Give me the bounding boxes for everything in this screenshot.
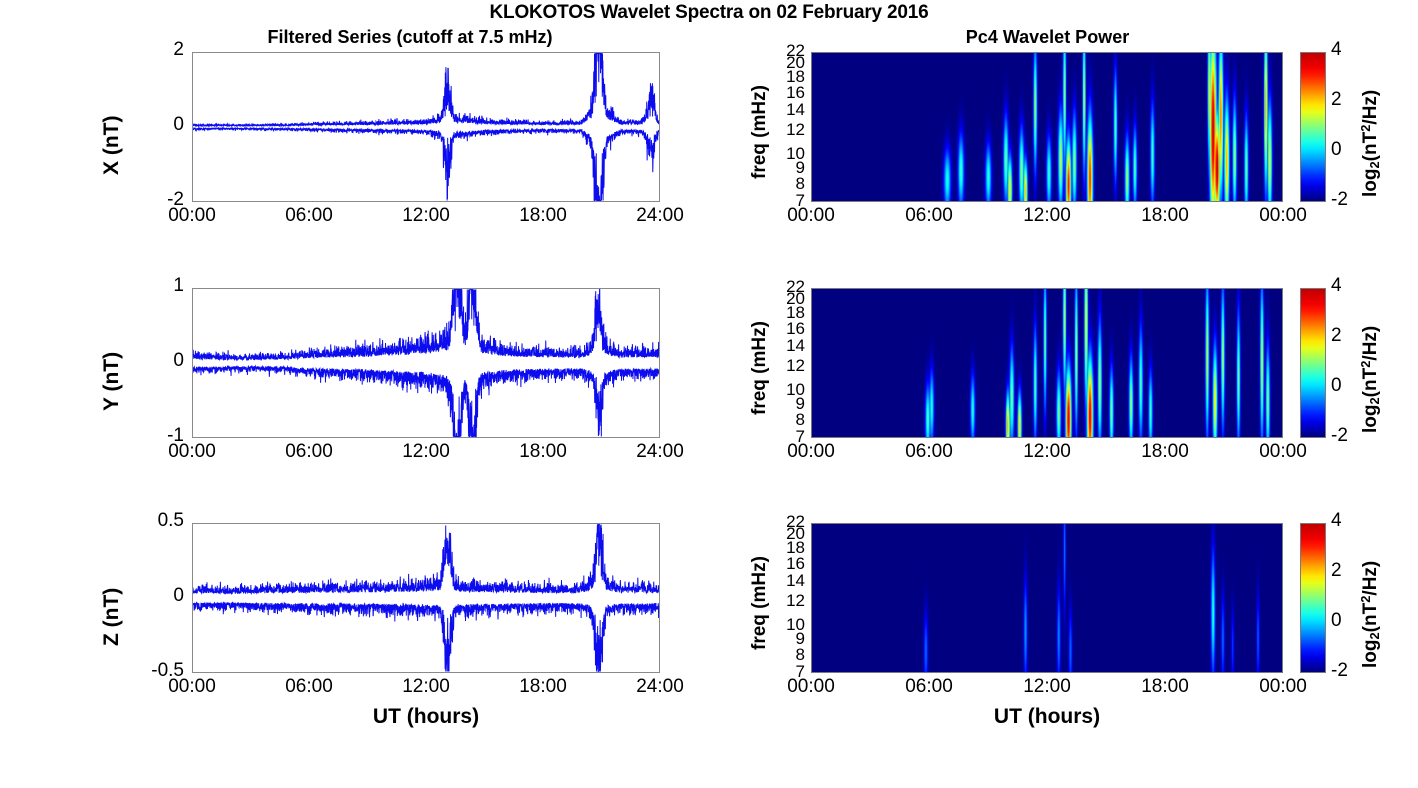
colorbar-x	[1300, 52, 1326, 202]
ylabel-z: Z (nT)	[100, 588, 124, 646]
wavelet-spectra-figure: KLOKOTOS Wavelet Spectra on 02 February …	[0, 0, 1418, 788]
colorbar-label-0: log2(nT2/Hz)	[1358, 90, 1382, 197]
freq-axis-label-1: freq (mHz)	[749, 321, 771, 415]
colorbar-tick-1-0: 4	[1331, 275, 1342, 297]
colorbar-label-2: log2(nT2/Hz)	[1358, 561, 1382, 668]
xtick-left-2-2: 12:00	[381, 676, 471, 698]
xtick-left-1-2: 12:00	[381, 441, 471, 463]
xtick-right-0-2: 12:00	[1002, 205, 1092, 227]
left-column-title: Filtered Series (cutoff at 7.5 mHz)	[155, 27, 665, 48]
xtick-right-2-1: 06:00	[884, 676, 974, 698]
xtick-right-2-4: 00:00	[1238, 676, 1328, 698]
colorbar-z	[1300, 523, 1326, 673]
xtick-right-0-4: 00:00	[1238, 205, 1328, 227]
colorbar-tick-2-0: 4	[1331, 510, 1342, 532]
timeseries-plot-z	[192, 523, 660, 673]
spectrogram-plot-x	[811, 52, 1283, 202]
ftick-2-14: 14	[773, 571, 805, 591]
ytick-x-2: 2	[126, 39, 184, 61]
ftick-0-12: 12	[773, 120, 805, 140]
colorbar-tick-0-0: 4	[1331, 39, 1342, 61]
colorbar-tick-2-1: 2	[1331, 560, 1342, 582]
colorbar-tick-1-2: 0	[1331, 375, 1342, 397]
timeseries-plot-x	[192, 52, 660, 202]
freq-axis-label-2: freq (mHz)	[749, 556, 771, 650]
right-column-title: Pc4 Wavelet Power	[810, 27, 1285, 48]
colorbar-tick-0-1: 2	[1331, 89, 1342, 111]
xtick-left-0-2: 12:00	[381, 205, 471, 227]
xtick-left-2-0: 00:00	[147, 676, 237, 698]
ytick-z-0.5: 0.5	[126, 510, 184, 532]
ylabel-x: X (nT)	[100, 116, 124, 175]
ytick-z-0: 0	[126, 585, 184, 607]
ylabel-y: Y (nT)	[100, 352, 124, 411]
xtick-right-1-2: 12:00	[1002, 441, 1092, 463]
xtick-right-2-0: 00:00	[766, 676, 856, 698]
xlabel-left: UT (hours)	[192, 705, 660, 729]
xtick-left-1-0: 00:00	[147, 441, 237, 463]
xtick-right-0-1: 06:00	[884, 205, 974, 227]
xtick-right-1-4: 00:00	[1238, 441, 1328, 463]
xtick-left-2-3: 18:00	[498, 676, 588, 698]
xlabel-right: UT (hours)	[811, 705, 1283, 729]
xtick-left-0-1: 06:00	[264, 205, 354, 227]
ytick-y-1: 1	[126, 275, 184, 297]
xtick-right-2-3: 18:00	[1120, 676, 1210, 698]
xtick-right-1-0: 00:00	[766, 441, 856, 463]
xtick-left-1-3: 18:00	[498, 441, 588, 463]
colorbar-tick-0-2: 0	[1331, 139, 1342, 161]
ftick-1-14: 14	[773, 336, 805, 356]
colorbar-tick-2-2: 0	[1331, 610, 1342, 632]
ftick-2-12: 12	[773, 591, 805, 611]
ytick-x-0: 0	[126, 114, 184, 136]
ftick-0-14: 14	[773, 100, 805, 120]
freq-axis-label-0: freq (mHz)	[749, 85, 771, 179]
ftick-1-12: 12	[773, 356, 805, 376]
figure-suptitle: KLOKOTOS Wavelet Spectra on 02 February …	[0, 2, 1418, 24]
xtick-right-0-3: 18:00	[1120, 205, 1210, 227]
colorbar-tick-0-3: -2	[1331, 189, 1348, 211]
xtick-left-1-1: 06:00	[264, 441, 354, 463]
colorbar-tick-1-1: 2	[1331, 325, 1342, 347]
xtick-left-0-4: 24:00	[615, 205, 705, 227]
xtick-left-0-0: 00:00	[147, 205, 237, 227]
spectrogram-plot-y	[811, 288, 1283, 438]
xtick-right-1-3: 18:00	[1120, 441, 1210, 463]
xtick-left-2-1: 06:00	[264, 676, 354, 698]
xtick-left-0-3: 18:00	[498, 205, 588, 227]
colorbar-tick-1-3: -2	[1331, 425, 1348, 447]
colorbar-y	[1300, 288, 1326, 438]
ytick-y-0: 0	[126, 350, 184, 372]
xtick-right-0-0: 00:00	[766, 205, 856, 227]
xtick-right-2-2: 12:00	[1002, 676, 1092, 698]
spectrogram-plot-z	[811, 523, 1283, 673]
colorbar-tick-2-3: -2	[1331, 660, 1348, 682]
colorbar-label-1: log2(nT2/Hz)	[1358, 326, 1382, 433]
timeseries-plot-y	[192, 288, 660, 438]
xtick-left-2-4: 24:00	[615, 676, 705, 698]
xtick-left-1-4: 24:00	[615, 441, 705, 463]
xtick-right-1-1: 06:00	[884, 441, 974, 463]
